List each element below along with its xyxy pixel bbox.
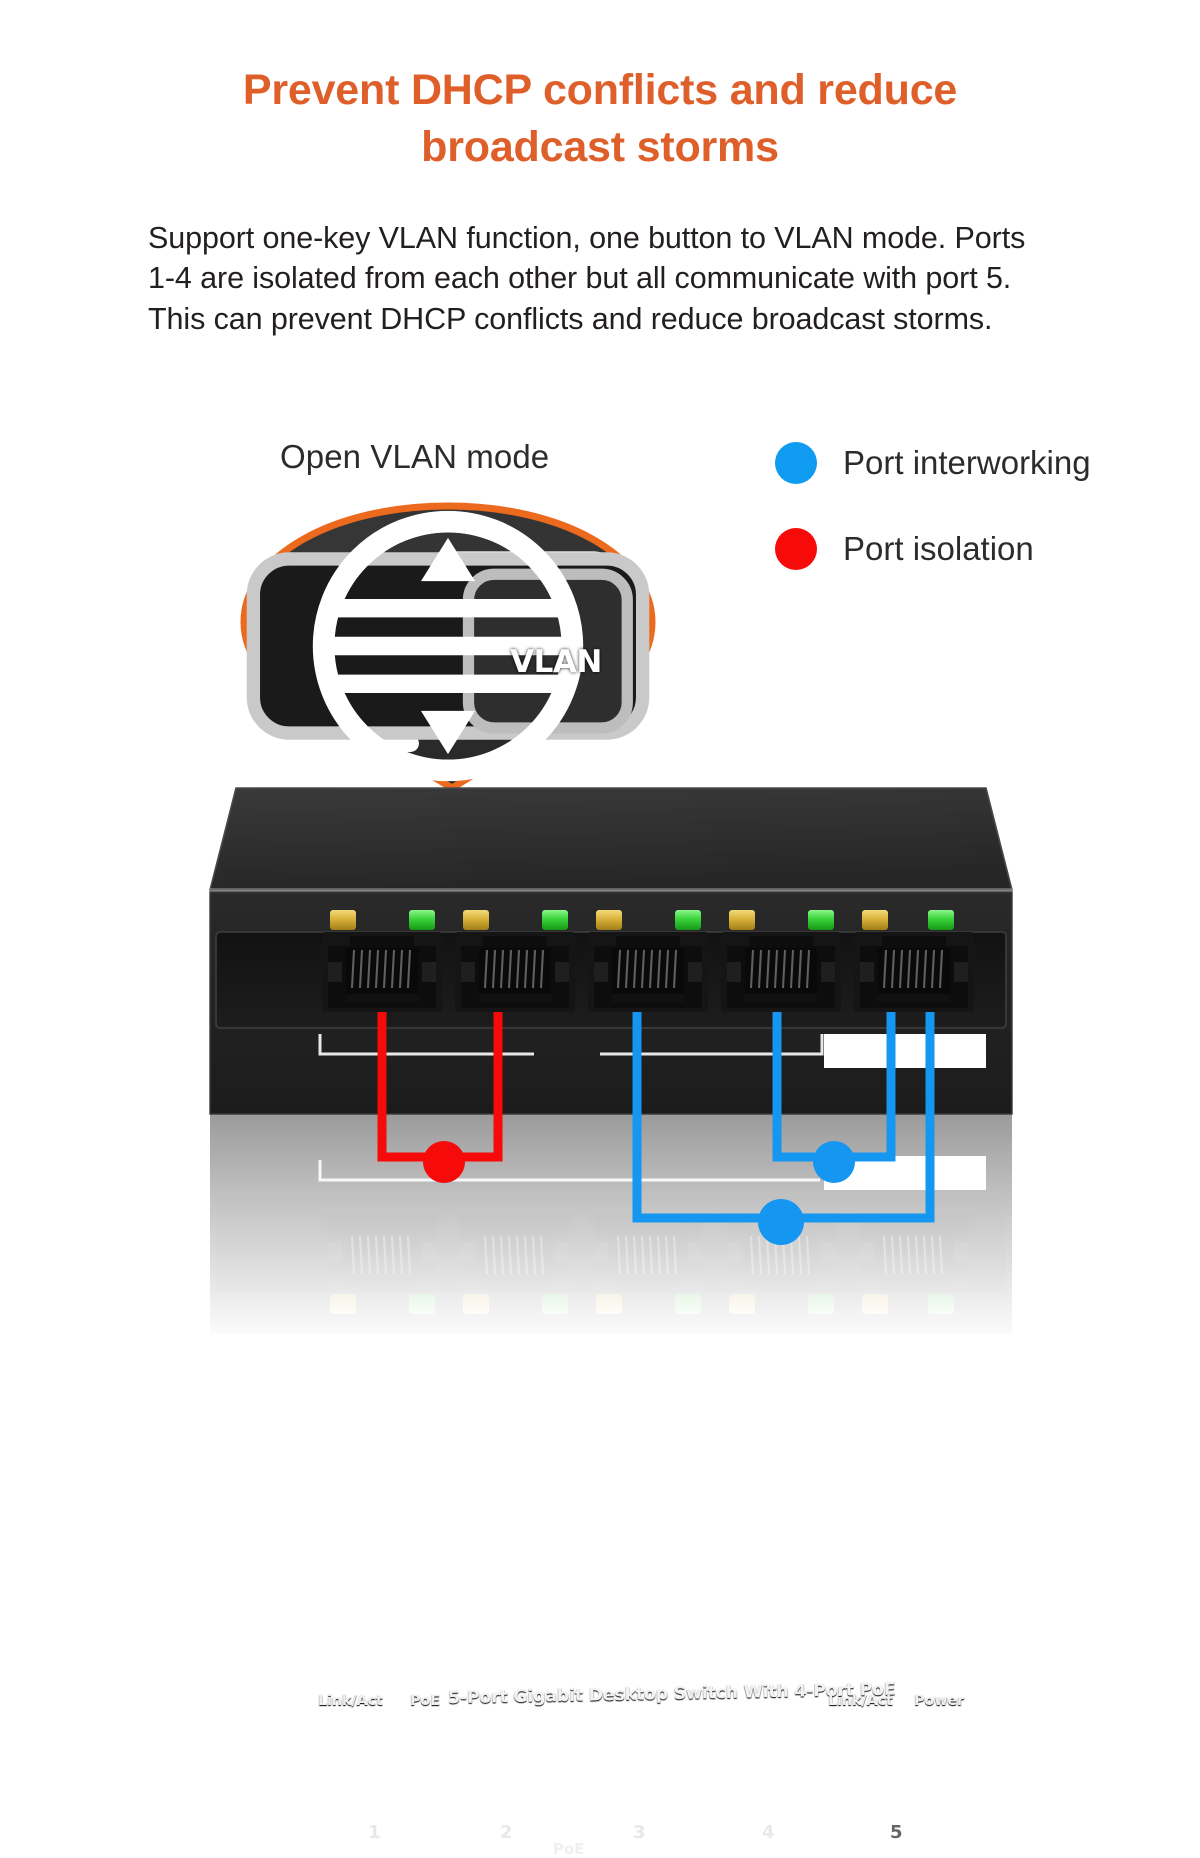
headline-line-1: Prevent DHCP conflicts and reduce [100, 62, 1100, 119]
label-poe: PoE [410, 1693, 440, 1709]
legend-label-interworking: Port interworking [843, 444, 1091, 482]
uplink-port-highlight [824, 1034, 986, 1068]
headline-line-2: broadcast storms [100, 119, 1100, 176]
label-link-act-left: Link/Act [318, 1693, 383, 1709]
legend-item-isolation: Port isolation [775, 518, 1091, 580]
blue-dot-icon [775, 442, 817, 484]
open-vlan-mode-label: Open VLAN mode [280, 438, 549, 476]
port-number-4: 4 [762, 1822, 775, 1843]
port-number-5: 5 [890, 1822, 903, 1843]
legend-label-isolation: Port isolation [843, 530, 1034, 568]
page-title: Prevent DHCP conflicts and reduce broadc… [100, 62, 1100, 176]
description-paragraph: Support one-key VLAN function, one butto… [148, 218, 1038, 339]
vlan-switch-callout: Default VLAN [238, 500, 658, 792]
rj45-port-group [322, 932, 974, 1012]
red-dot-icon [775, 528, 817, 570]
port-number-2: 2 [500, 1822, 513, 1843]
network-switch-device: 5-Port Gigabit Desktop Switch With 4-Por… [0, 782, 1200, 1342]
label-power: Power [914, 1693, 964, 1709]
port-number-3: 3 [633, 1822, 646, 1843]
label-link-act-right: Link/Act [828, 1693, 893, 1709]
legend-item-interworking: Port interworking [775, 432, 1091, 494]
infographic-page: Prevent DHCP conflicts and reduce broadc… [0, 0, 1200, 1376]
port-number-1: 1 [368, 1822, 381, 1843]
callout-balloon-shape [238, 500, 658, 792]
legend: Port interworking Port isolation [775, 432, 1091, 604]
poe-bracket-label: PoE [553, 1840, 585, 1858]
switch-illustration [0, 782, 1200, 1342]
